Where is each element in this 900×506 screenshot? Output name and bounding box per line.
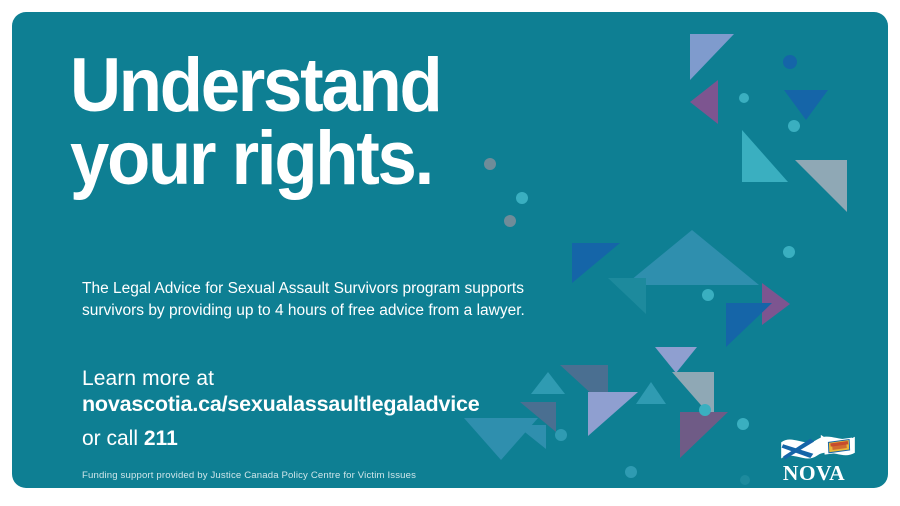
- dot-cyan-bl: [555, 429, 567, 441]
- tri-teal-small: [608, 278, 646, 314]
- body-paragraph: The Legal Advice for Sexual Assault Surv…: [82, 278, 562, 322]
- tri-cyan-mid: [742, 130, 788, 182]
- tri-blue-bottomleft: [516, 425, 546, 449]
- dot-cyan-right: [739, 93, 749, 103]
- tri-slate-right: [795, 160, 847, 212]
- dot-darkblue: [783, 55, 797, 69]
- tri-darkblue-left: [572, 243, 620, 283]
- page-title: Understand your rights.: [70, 50, 554, 196]
- tri-midteal-big: [625, 230, 759, 285]
- logo-wordmark: NOVA SCOTIA: [744, 463, 884, 488]
- dot-cyan-far: [783, 246, 795, 258]
- poster-canvas: Understand your rights. The Legal Advice…: [0, 0, 900, 506]
- dot-cyan-right2: [788, 120, 800, 132]
- dot-cyan-small: [702, 289, 714, 301]
- or-call-label: or call: [82, 427, 138, 450]
- learn-more-block: Learn more at novascotia.ca/sexualassaul…: [82, 367, 642, 418]
- dot-cyan-logo: [737, 418, 749, 430]
- tri-periwinkle-top: [690, 34, 734, 80]
- tri-purple-upper: [690, 80, 718, 124]
- tri-blue-center: [726, 303, 772, 347]
- headline-line-2: your rights.: [70, 123, 554, 196]
- website-url[interactable]: novascotia.ca/sexualassaultlegaladvice: [82, 392, 642, 418]
- tri-darkblue-down: [784, 90, 828, 120]
- tri-purple-bottom: [680, 412, 728, 458]
- funding-note: Funding support provided by Justice Cana…: [82, 470, 416, 481]
- or-call-block: or call 211: [82, 427, 178, 451]
- poster-card: Understand your rights. The Legal Advice…: [12, 12, 888, 488]
- dot-gray-lower: [504, 215, 516, 227]
- tri-periwinkle-low: [655, 347, 697, 373]
- nova-scotia-logo: NOVA SCOTIA: [744, 432, 884, 488]
- learn-more-label: Learn more at: [82, 367, 642, 392]
- dot-cyan-bottom: [625, 466, 637, 478]
- dot-cyan-low: [699, 404, 711, 416]
- phone-number[interactable]: 211: [144, 427, 178, 450]
- headline-block: Understand your rights.: [70, 50, 590, 196]
